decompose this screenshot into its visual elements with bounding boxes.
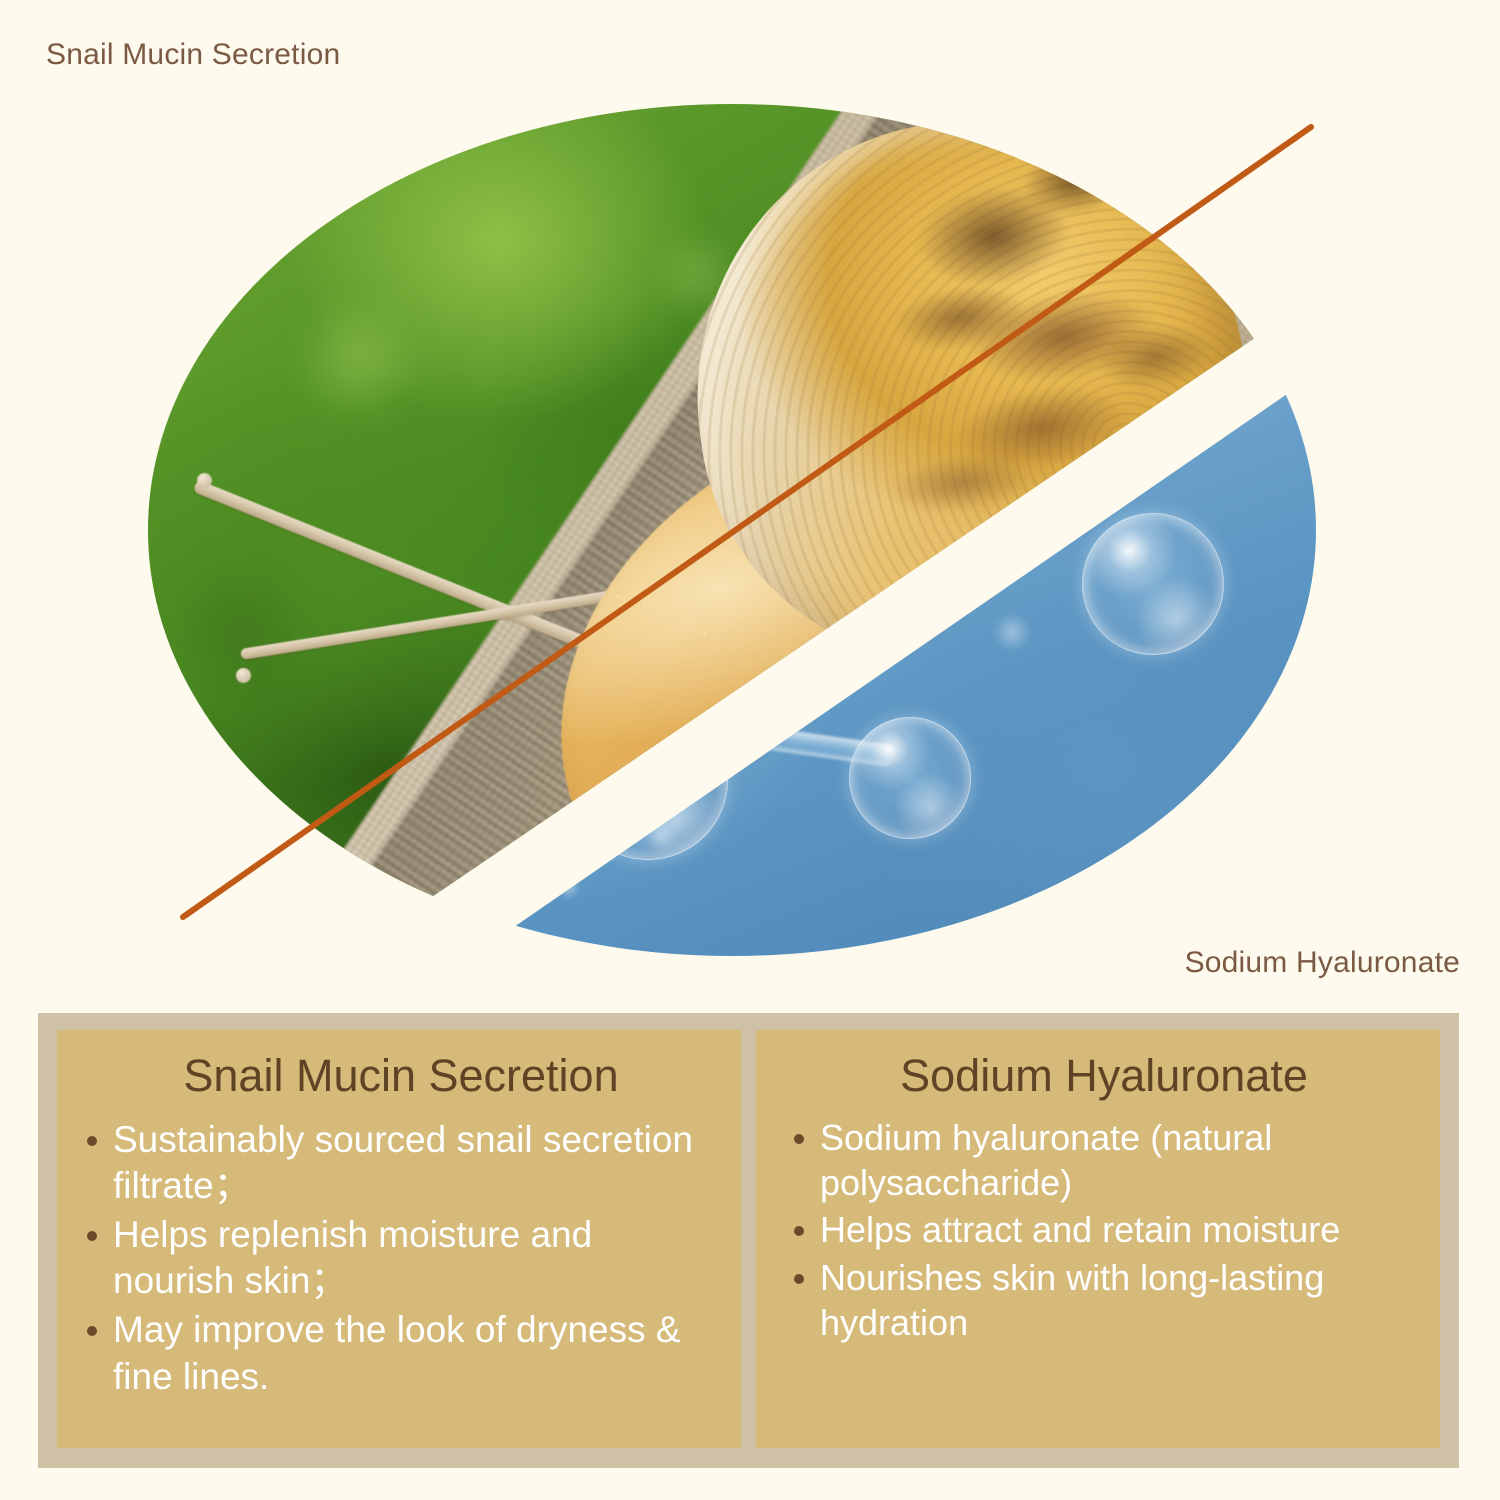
panel-divider [741, 1030, 756, 1448]
gel-sphere [1082, 513, 1224, 655]
list-item: Helps replenish moisture and nourish ski… [83, 1212, 719, 1305]
panel-heading-snail-mucin: Snail Mucin Secretion [83, 1052, 719, 1101]
panel-column-snail-mucin: Snail Mucin Secretion Sustainably source… [57, 1030, 741, 1448]
caption-sodium-hyaluronate: Sodium Hyaluronate [1185, 946, 1460, 980]
bullet-list-sodium-hyaluronate: Sodium hyaluronate (natural polysacchari… [790, 1115, 1418, 1346]
list-item: Nourishes skin with long-lasting hydrati… [790, 1255, 1418, 1346]
snail-tentacle-tip-upper [197, 473, 212, 488]
list-item: Sustainably sourced snail secretion filt… [83, 1117, 719, 1210]
panel-column-sodium-hyaluronate: Sodium Hyaluronate Sodium hyaluronate (n… [756, 1030, 1440, 1448]
list-item: Sodium hyaluronate (natural polysacchari… [790, 1115, 1418, 1206]
gel-sphere [849, 717, 971, 839]
bullet-list-snail-mucin: Sustainably sourced snail secretion filt… [83, 1117, 719, 1401]
list-item: Helps attract and retain moisture [790, 1207, 1418, 1252]
hero-split-circle-image [0, 0, 1500, 1000]
ingredient-info-panel: Snail Mucin Secretion Sustainably source… [38, 1013, 1459, 1468]
panel-heading-sodium-hyaluronate: Sodium Hyaluronate [790, 1052, 1418, 1101]
snail-tentacle-tip-lower [236, 668, 251, 683]
list-item: May improve the look of dryness & fine l… [83, 1307, 719, 1400]
